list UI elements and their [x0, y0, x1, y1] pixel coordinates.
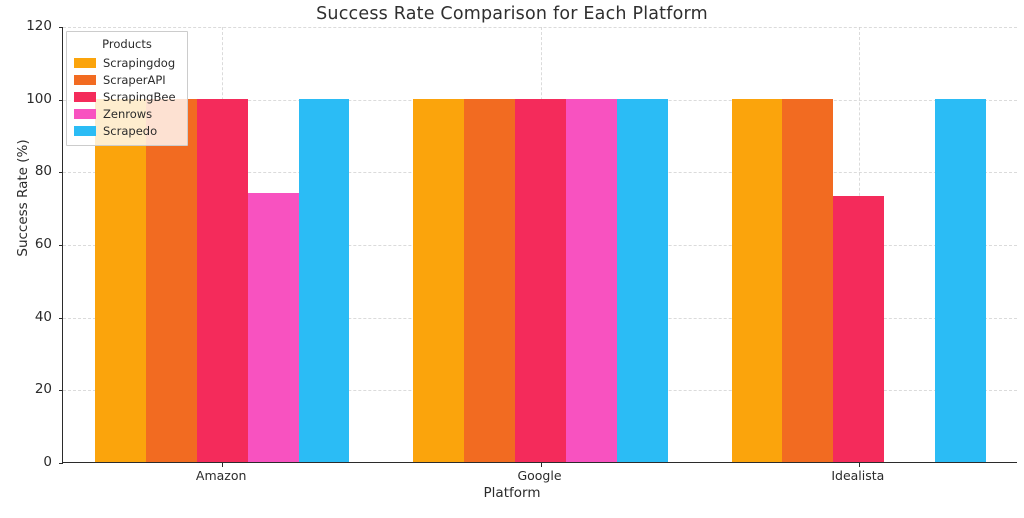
y-tick-label: 120 [10, 18, 52, 34]
bar-amazon-scrapedo[interactable] [299, 99, 350, 462]
y-tick-label: 20 [10, 381, 52, 397]
legend-item-scrapingdog[interactable]: Scrapingdog [74, 54, 180, 71]
y-tick-mark [59, 27, 64, 28]
legend-swatch-icon [74, 75, 96, 85]
x-tick-label-google: Google [517, 468, 561, 483]
legend-title: Products [74, 37, 180, 51]
bar-amazon-scrapingbee[interactable] [197, 99, 248, 462]
legend-label: ScraperAPI [103, 73, 166, 87]
bar-idealista-scrapedo[interactable] [935, 99, 986, 462]
plot-area [62, 27, 1017, 463]
bar-idealista-scrapingdog[interactable] [732, 99, 783, 462]
y-tick-mark [59, 390, 64, 391]
legend-swatch-icon [74, 126, 96, 136]
bar-idealista-scrapingbee[interactable] [833, 196, 884, 462]
legend-label: Scrapedo [103, 124, 157, 138]
x-tick-mark [541, 462, 542, 467]
legend-item-scrapingbee[interactable]: ScrapingBee [74, 88, 180, 105]
legend-swatch-icon [74, 58, 96, 68]
bar-google-scrapingdog[interactable] [413, 99, 464, 462]
y-tick-label: 80 [10, 163, 52, 179]
legend-label: ScrapingBee [103, 90, 176, 104]
x-tick-label-idealista: Idealista [831, 468, 884, 483]
y-tick-label: 40 [10, 309, 52, 325]
chart-figure: Success Rate Comparison for Each Platfor… [0, 0, 1024, 508]
bar-google-scraperapi[interactable] [464, 99, 515, 462]
bar-amazon-scrapingdog[interactable] [95, 99, 146, 462]
legend[interactable]: Products ScrapingdogScraperAPIScrapingBe… [66, 31, 188, 146]
bar-google-zenrows[interactable] [566, 99, 617, 462]
legend-item-scrapedo[interactable]: Scrapedo [74, 122, 180, 139]
bar-amazon-scraperapi[interactable] [146, 99, 197, 462]
bar-idealista-scraperapi[interactable] [782, 99, 833, 462]
y-tick-mark [59, 172, 64, 173]
y-tick-mark [59, 100, 64, 101]
bar-google-scrapedo[interactable] [617, 99, 668, 462]
legend-swatch-icon [74, 92, 96, 102]
legend-item-zenrows[interactable]: Zenrows [74, 105, 180, 122]
y-tick-label: 60 [10, 236, 52, 252]
y-axis-label: Success Rate (%) [15, 0, 31, 518]
legend-label: Zenrows [103, 107, 152, 121]
chart-title: Success Rate Comparison for Each Platfor… [0, 4, 1024, 24]
bar-google-scrapingbee[interactable] [515, 99, 566, 462]
legend-item-scraperapi[interactable]: ScraperAPI [74, 71, 180, 88]
y-tick-mark [59, 245, 64, 246]
y-tick-label: 0 [10, 454, 52, 470]
legend-entries: ScrapingdogScraperAPIScrapingBeeZenrowsS… [74, 54, 180, 139]
y-tick-mark [59, 463, 64, 464]
x-tick-mark [859, 462, 860, 467]
x-axis-label: Platform [0, 485, 1024, 501]
y-tick-label: 100 [10, 91, 52, 107]
y-tick-mark [59, 318, 64, 319]
bar-amazon-zenrows[interactable] [248, 193, 299, 462]
x-tick-mark [222, 462, 223, 467]
legend-label: Scrapingdog [103, 56, 175, 70]
x-tick-label-amazon: Amazon [196, 468, 247, 483]
legend-swatch-icon [74, 109, 96, 119]
